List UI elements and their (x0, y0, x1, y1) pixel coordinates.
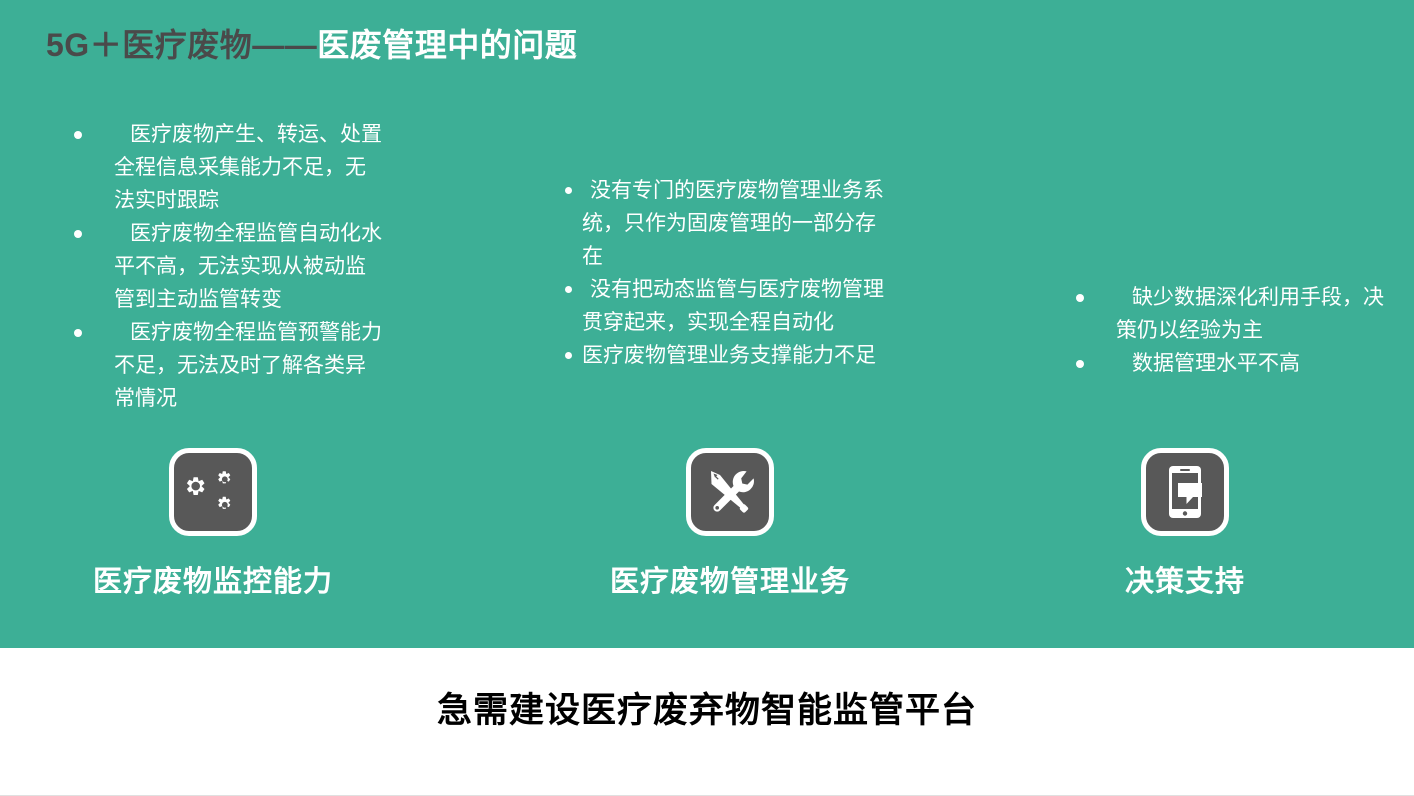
conclusion-text: 急需建设医疗废弃物智能监管平台 (0, 682, 1414, 733)
bullet-column-decision: 缺少数据深化利用手段，决策仍以经验为主 数据管理水平不高 (1064, 281, 1384, 380)
list-item: 医疗废物全程监管预警能力不足，无法及时了解各类异常情况 (62, 316, 382, 415)
bullet-dot-icon (74, 329, 82, 337)
bullet-dot-icon (565, 286, 572, 293)
bullet-column-monitoring: 医疗废物产生、转运、处置全程信息采集能力不足，无法实时跟踪 医疗废物全程监管自动… (62, 118, 382, 415)
mobile-chat-icon (1159, 463, 1211, 521)
bullet-dot-icon (74, 131, 82, 139)
bullet-column-business: 没有专门的医疗废物管理业务系统，只作为固废管理的一部分存在 没有把动态监管与医疗… (560, 174, 890, 372)
feature-group-monitoring: 医疗废物监控能力 (48, 448, 378, 600)
list-item: 没有把动态监管与医疗废物管理贯穿起来，实现全程自动化 (560, 273, 890, 339)
list-item-text: 没有把动态监管与医疗废物管理贯穿起来，实现全程自动化 (582, 273, 890, 339)
list-item-text: 医疗废物全程监管预警能力不足，无法及时了解各类异常情况 (114, 316, 382, 415)
list-item-text: 医疗废物管理业务支撑能力不足 (582, 339, 890, 372)
bullet-list: 缺少数据深化利用手段，决策仍以经验为主 数据管理水平不高 (1064, 281, 1384, 380)
list-item: 医疗废物产生、转运、处置全程信息采集能力不足，无法实时跟踪 (62, 118, 382, 217)
list-item-text: 没有专门的医疗废物管理业务系统，只作为固废管理的一部分存在 (582, 174, 890, 273)
bullet-list: 没有专门的医疗废物管理业务系统，只作为固废管理的一部分存在 没有把动态监管与医疗… (560, 174, 890, 372)
list-item-text: 数据管理水平不高 (1116, 347, 1384, 380)
feature-caption: 医疗废物监控能力 (48, 558, 378, 600)
mobile-chat-icon-frame (1141, 448, 1229, 536)
list-item: 缺少数据深化利用手段，决策仍以经验为主 (1064, 281, 1384, 347)
bullet-dot-icon (1076, 294, 1084, 302)
list-item: 数据管理水平不高 (1064, 347, 1384, 380)
bullet-dot-icon (74, 230, 82, 238)
slide-canvas: 5G＋医疗废物——医废管理中的问题 医疗废物产生、转运、处置全程信息采集能力不足… (0, 0, 1414, 796)
page-title-prefix: 5G＋医疗废物—— (46, 27, 317, 63)
page-title: 5G＋医疗废物——医废管理中的问题 (46, 22, 577, 68)
list-item-text: 医疗废物全程监管自动化水平不高，无法实现从被动监管到主动监管转变 (114, 217, 382, 316)
feature-caption: 医疗废物管理业务 (565, 558, 895, 600)
feature-caption: 决策支持 (1040, 558, 1330, 600)
list-item: 医疗废物全程监管自动化水平不高，无法实现从被动监管到主动监管转变 (62, 217, 382, 316)
bullet-dot-icon (1076, 360, 1084, 368)
page-title-highlight: 医废管理中的问题 (317, 27, 577, 63)
gears-icon (182, 465, 244, 519)
bullet-list: 医疗废物产生、转运、处置全程信息采集能力不足，无法实时跟踪 医疗废物全程监管自动… (62, 118, 382, 415)
bullet-dot-icon (565, 352, 572, 359)
feature-group-business: 医疗废物管理业务 (565, 448, 895, 600)
feature-group-decision: 决策支持 (1040, 448, 1330, 600)
list-item: 医疗废物管理业务支撑能力不足 (560, 339, 890, 372)
bullet-dot-icon (565, 187, 572, 194)
tools-icon-frame (686, 448, 774, 536)
tools-icon (702, 464, 758, 520)
gears-icon-frame (169, 448, 257, 536)
list-item: 没有专门的医疗废物管理业务系统，只作为固废管理的一部分存在 (560, 174, 890, 273)
list-item-text: 缺少数据深化利用手段，决策仍以经验为主 (1116, 281, 1384, 347)
list-item-text: 医疗废物产生、转运、处置全程信息采集能力不足，无法实时跟踪 (114, 118, 382, 217)
